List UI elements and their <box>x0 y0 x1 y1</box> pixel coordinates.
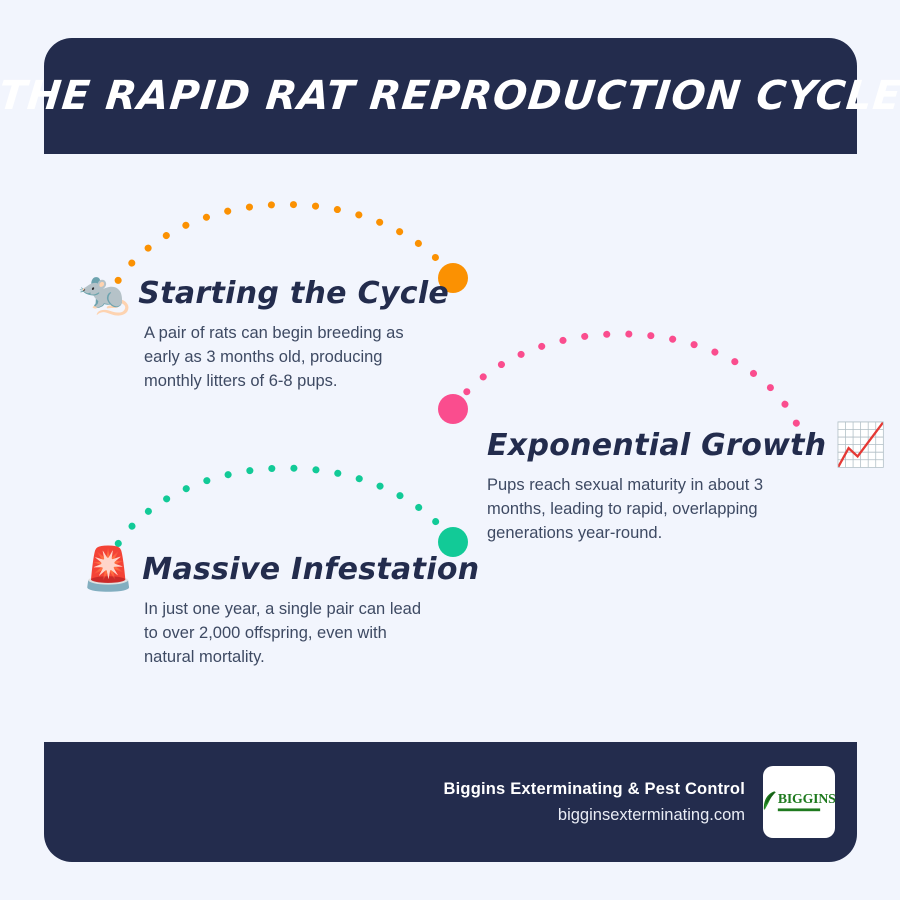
step-starting-the-cycle: 🐀 Starting the Cycle A pair of rats can … <box>78 272 449 394</box>
logo-mark: BIGGINS <box>762 790 835 814</box>
header-bar: THE RAPID RAT REPRODUCTION CYCLE <box>44 38 857 154</box>
leaf-icon <box>762 790 777 814</box>
rotating-light-icon: 🚨 <box>82 548 134 590</box>
footer-bar: Biggins Exterminating & Pest Control big… <box>44 742 857 862</box>
rat-icon: 🐀 <box>78 272 130 314</box>
company-logo: BIGGINS <box>763 766 835 838</box>
step-title-massive-infestation: Massive Infestation <box>142 552 479 587</box>
step-body-massive-infestation: In just one year, a single pair can lead… <box>144 598 429 670</box>
logo-text-block: BIGGINS <box>778 793 836 811</box>
logo-underbar <box>778 808 820 811</box>
step-heading-row: Exponential Growth 📈 <box>487 424 887 466</box>
step-body-starting-the-cycle: A pair of rats can begin breeding as ear… <box>144 322 429 394</box>
footer-text-block: Biggins Exterminating & Pest Control big… <box>444 776 745 829</box>
step-exponential-growth: Exponential Growth 📈 Pups reach sexual m… <box>487 424 887 546</box>
chart-increasing-icon: 📈 <box>834 424 886 466</box>
page-title: THE RAPID RAT REPRODUCTION CYCLE <box>0 76 900 116</box>
step-title-exponential-growth: Exponential Growth <box>487 428 826 463</box>
step-heading-row: 🐀 Starting the Cycle <box>78 272 449 314</box>
logo-wordmark: BIGGINS <box>778 793 836 807</box>
node-marker-exponential-growth <box>438 394 468 424</box>
step-body-exponential-growth: Pups reach sexual maturity in about 3 mo… <box>487 474 772 546</box>
arc-pink <box>453 334 800 432</box>
infographic-canvas: THE RAPID RAT REPRODUCTION CYCLE 🐀 Start… <box>0 0 900 900</box>
step-heading-row: 🚨 Massive Infestation <box>82 548 479 590</box>
step-title-starting-the-cycle: Starting the Cycle <box>138 276 449 311</box>
step-massive-infestation: 🚨 Massive Infestation In just one year, … <box>82 548 479 670</box>
footer-company-name: Biggins Exterminating & Pest Control <box>444 776 745 802</box>
footer-website-url[interactable]: bigginsexterminating.com <box>444 802 745 828</box>
